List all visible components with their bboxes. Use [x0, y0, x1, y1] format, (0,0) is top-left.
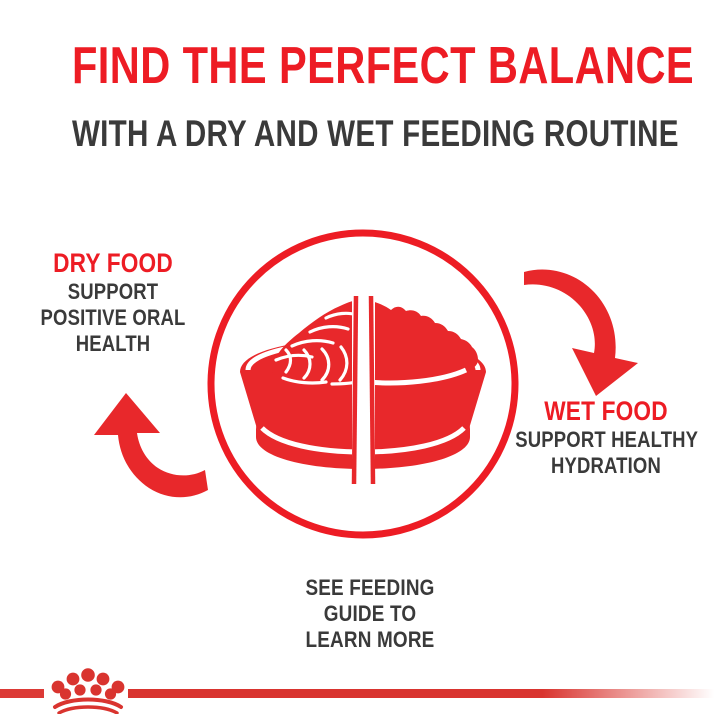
poster-root: FIND THE PERFECT BALANCE WITH A DRY AND …: [0, 0, 720, 720]
vertical-split-line: [352, 292, 375, 488]
wet-food-line-1: SUPPORT HEALTHY: [515, 427, 696, 453]
crown-arcs: [55, 700, 121, 714]
feeding-guide-line-1: SEE FEEDING: [258, 575, 482, 601]
wet-food-block: WET FOOD SUPPORT HEALTHY HYDRATION: [498, 396, 714, 479]
curved-arrow-down-right: [524, 269, 638, 396]
page-subheadline: WITH A DRY AND WET FEEDING ROUTINE: [72, 113, 648, 155]
curved-arrow-up-left: [94, 393, 208, 497]
circle-outline: [211, 233, 515, 535]
brand-bar-right-segment: [128, 689, 720, 698]
feeding-guide-caption: SEE FEEDING GUIDE TO LEARN MORE: [258, 575, 482, 653]
dry-food-line-2: POSITIVE ORAL: [23, 305, 203, 331]
dry-food-line-3: HEALTH: [23, 331, 203, 357]
page-headline: FIND THE PERFECT BALANCE: [72, 38, 648, 94]
wet-food-description: SUPPORT HEALTHY HYDRATION: [515, 427, 696, 479]
bowl-rim-highlight: [248, 342, 478, 370]
brand-bar-left-segment: [0, 689, 44, 698]
bowl-base-ring: [256, 424, 470, 469]
dry-food-line-1: SUPPORT: [23, 279, 203, 305]
dry-food-description: SUPPORT POSITIVE ORAL HEALTH: [23, 279, 203, 357]
wet-food-line-2: HYDRATION: [515, 453, 696, 479]
wet-food: [368, 300, 478, 383]
split-food-bowl: [240, 292, 486, 488]
feeding-guide-line-2: GUIDE TO: [258, 601, 482, 627]
wet-food-title: WET FOOD: [515, 396, 696, 427]
bowl-body: [240, 339, 486, 461]
crown-dots: [52, 668, 125, 699]
kibble-texture: [276, 313, 360, 384]
dry-food-block: DRY FOOD SUPPORT POSITIVE ORAL HEALTH: [6, 248, 220, 357]
royal-canin-crown-logo: [48, 662, 128, 714]
dry-kibble: [272, 299, 360, 384]
feeding-guide-line-3: LEARN MORE: [258, 627, 482, 653]
kibble-mound: [272, 299, 360, 383]
bowl-foot-line: [262, 428, 464, 452]
dry-food-title: DRY FOOD: [23, 248, 203, 279]
wet-food-rim-highlight: [368, 370, 466, 383]
